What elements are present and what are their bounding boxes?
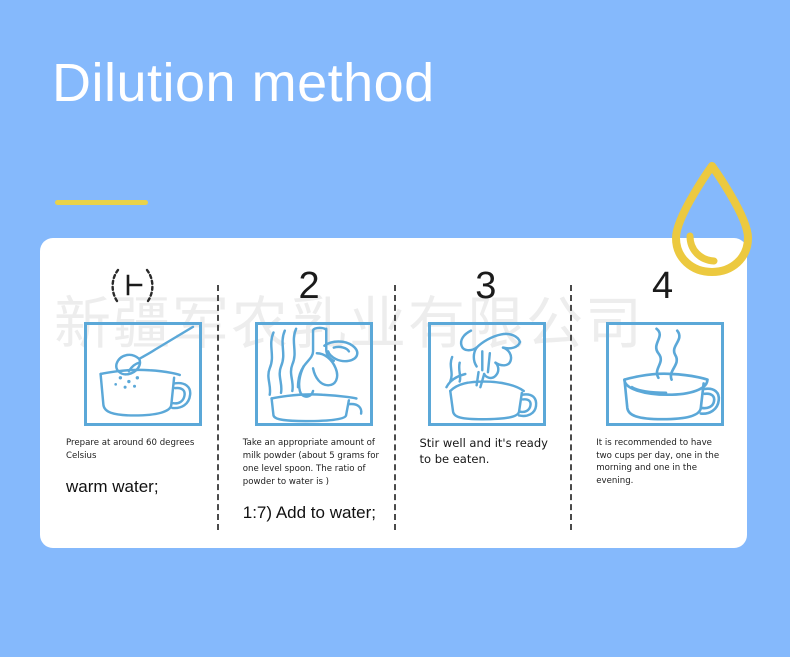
step-1: Prepare at around 60 degrees Celsius war… (40, 238, 217, 548)
step-2-caption-small: Take an appropriate amount of milk powde… (243, 437, 380, 489)
step-1-number-glyph (104, 266, 160, 304)
step-2: 2 (217, 238, 394, 548)
step-2-caption-large: 1:7) Add to water; (243, 502, 380, 524)
step-4: 4 It is recommended to have two cups (570, 238, 747, 548)
page-title: Dilution method (52, 52, 435, 114)
step-3: 3 (394, 238, 571, 548)
step-1-number (62, 266, 203, 306)
step-3-number: 3 (416, 266, 557, 306)
step-1-caption-small: Prepare at around 60 degrees Celsius (66, 437, 203, 463)
title-underline-rule (55, 200, 148, 205)
step-3-caption: Stir well and it's ready to be eaten. (420, 435, 557, 467)
pouring-powder-into-steaming-cup-icon (255, 322, 373, 426)
step-4-caption-small: It is recommended to have two cups per d… (596, 437, 724, 487)
step-2-number: 2 (239, 266, 380, 306)
steps-row: Prepare at around 60 degrees Celsius war… (40, 238, 747, 548)
water-drop-icon (666, 160, 758, 278)
instruction-card: 新疆军农乳业有限公司 (40, 238, 747, 548)
steaming-cup-icon (606, 322, 724, 426)
spoon-pouring-powder-into-cup-icon (84, 322, 202, 426)
hand-stirring-cup-icon (428, 322, 546, 426)
step-1-caption-large: warm water; (66, 476, 203, 498)
